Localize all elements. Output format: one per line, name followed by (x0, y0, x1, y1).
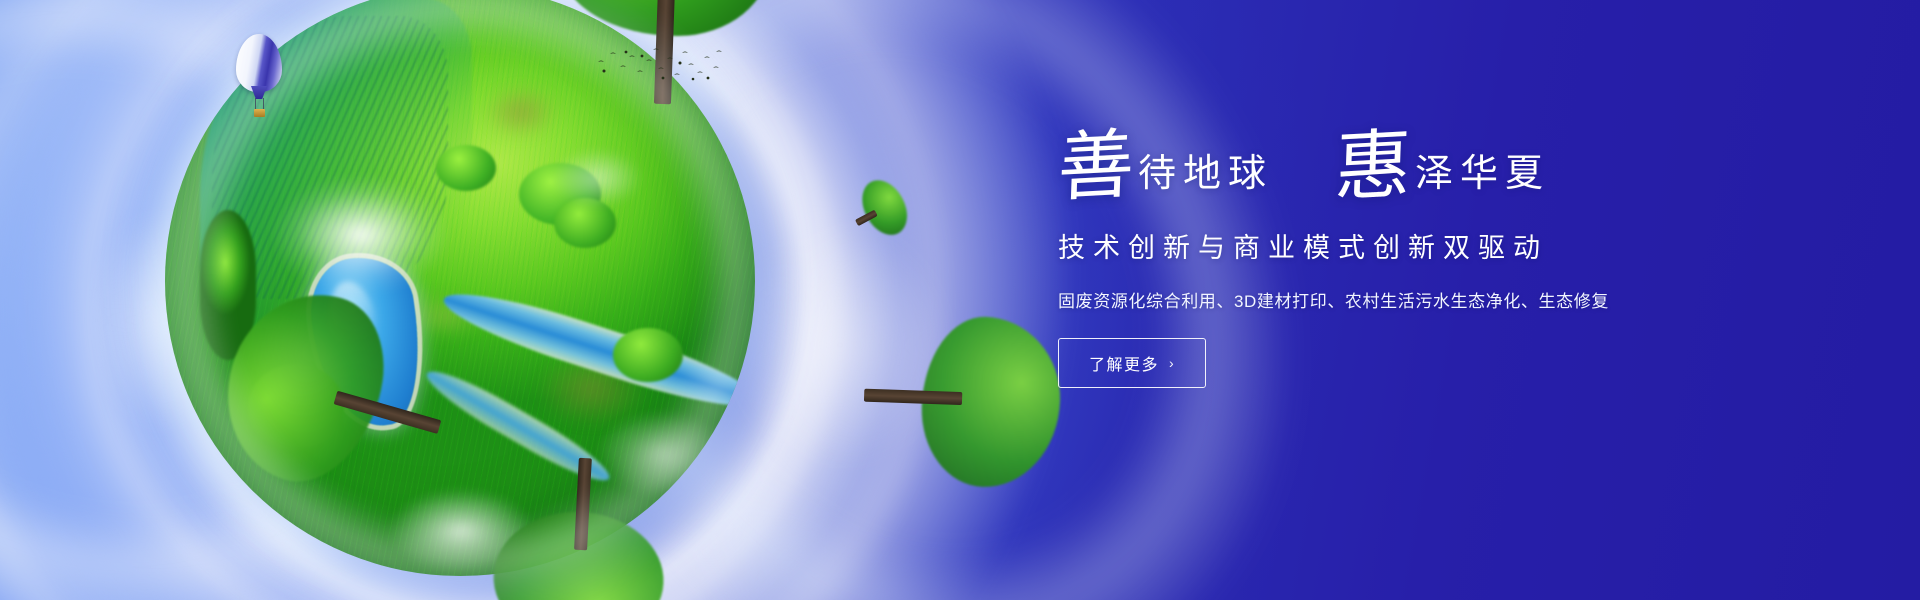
tree-icon (848, 173, 916, 246)
tree-icon (490, 452, 670, 600)
headline-large-2: 惠 (1334, 128, 1417, 204)
headline-small-2: 泽华夏 (1415, 154, 1550, 192)
hero-description: 固废资源化综合利用、3D建材打印、农村生活污水生态净化、生态修复 (1058, 287, 1758, 312)
page-title: 善 待地球 惠 泽华夏 (1058, 130, 1758, 202)
hot-air-balloon-icon (236, 34, 282, 122)
hero-copy-block: 善 待地球 惠 泽华夏 技术创新与商业模式创新双驱动 固废资源化综合利用、3D建… (1058, 130, 1758, 388)
headline-large-1: 善 (1057, 128, 1140, 204)
bird-flock-icon (596, 48, 724, 86)
tree-icon (857, 313, 1063, 490)
earth-patch (484, 86, 558, 138)
globe-cloud (271, 175, 451, 295)
hero-subtitle: 技术创新与商业模式创新双驱动 (1058, 226, 1758, 265)
headline-segment-2: 惠 泽华夏 (1335, 130, 1550, 202)
balloon-basket (254, 109, 265, 117)
tree-trunk (864, 389, 962, 405)
learn-more-button[interactable]: 了解更多 › (1058, 338, 1206, 388)
learn-more-label: 了解更多 (1089, 351, 1159, 375)
balloon-skirt (251, 86, 267, 99)
headline-small-1: 待地球 (1138, 154, 1273, 192)
balloon-rope (255, 98, 256, 109)
chevron-right-icon: › (1169, 356, 1175, 370)
globe-cloud (537, 139, 657, 217)
headline-segment-1: 善 待地球 (1058, 130, 1273, 202)
hero-banner: 善 待地球 惠 泽华夏 技术创新与商业模式创新双驱动 固废资源化综合利用、3D建… (0, 0, 1920, 600)
balloon-rope (263, 98, 264, 109)
tree-crown (853, 173, 916, 243)
balloon-envelope (236, 34, 282, 92)
